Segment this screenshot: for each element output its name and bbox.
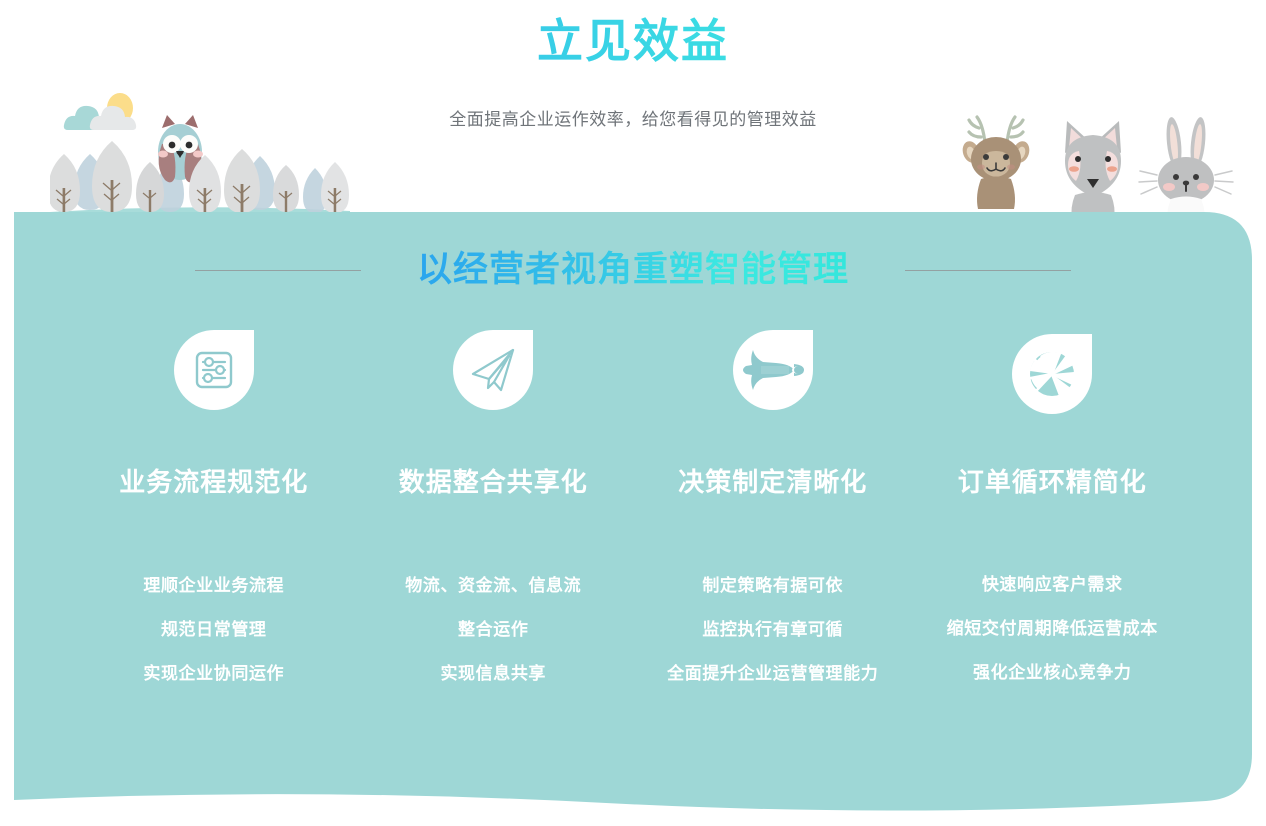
feature-line: 物流、资金流、信息流 xyxy=(405,571,581,596)
space-shuttle-icon xyxy=(731,328,815,412)
feature-line: 实现信息共享 xyxy=(440,659,546,684)
divider-right xyxy=(905,270,1071,271)
feature-line: 规范日常管理 xyxy=(161,615,267,640)
camera-aperture-icon xyxy=(1010,332,1094,416)
feature-line: 实现企业协同运作 xyxy=(143,659,284,684)
feature-line: 全面提升企业运营管理能力 xyxy=(667,659,878,684)
feature-columns: 业务流程规范化 理顺企业业务流程 规范日常管理 实现企业协同运作 xyxy=(74,328,1192,684)
sliders-settings-icon xyxy=(172,328,256,412)
section-heading: 以经营者视角重塑智能管理 xyxy=(417,246,849,294)
feature-line: 强化企业核心竞争力 xyxy=(973,658,1131,683)
feature-lines: 物流、资金流、信息流 整合运作 实现信息共享 xyxy=(405,571,581,684)
deer xyxy=(960,117,1032,209)
feature-line: 监控执行有章可循 xyxy=(702,615,843,640)
page-subtitle: 全面提高企业运作效率，给您看得见的管理效益 xyxy=(0,105,1266,130)
feature-line: 制定策略有据可依 xyxy=(702,571,843,596)
feature-line: 理顺企业业务流程 xyxy=(143,571,284,596)
feature-lines: 理顺企业业务流程 规范日常管理 实现企业协同运作 xyxy=(143,571,284,684)
benefits-panel: 以经营者视角重塑智能管理 xyxy=(14,208,1252,814)
page-title: 立见效益 xyxy=(0,10,1266,72)
wolf xyxy=(1065,121,1121,220)
feature-lines: 制定策略有据可依 监控执行有章可循 全面提升企业运营管理能力 xyxy=(667,571,878,684)
feature-lines: 快速响应客户需求 缩短交付周期降低运营成本 强化企业核心竞争力 xyxy=(947,570,1158,683)
feature-column-order-cycle[interactable]: 订单循环精简化 快速响应客户需求 缩短交付周期降低运营成本 强化企业核心竞争力 xyxy=(913,328,1193,684)
feature-column-decision-making[interactable]: 决策制定清晰化 制定策略有据可依 监控执行有章可循 全面提升企业运营管理能力 xyxy=(633,328,913,684)
feature-column-data-integration[interactable]: 数据整合共享化 物流、资金流、信息流 整合运作 实现信息共享 xyxy=(354,328,634,684)
feature-line: 整合运作 xyxy=(458,615,528,640)
feature-title: 业务流程规范化 xyxy=(119,462,308,499)
rabbit xyxy=(1139,116,1233,220)
divider-left xyxy=(195,270,361,271)
paper-plane-icon xyxy=(451,328,535,412)
feature-column-business-process[interactable]: 业务流程规范化 理顺企业业务流程 规范日常管理 实现企业协同运作 xyxy=(74,328,354,684)
feature-line: 快速响应客户需求 xyxy=(982,570,1123,595)
feature-title: 订单循环精简化 xyxy=(958,462,1147,499)
section-heading-row: 以经营者视角重塑智能管理 xyxy=(14,246,1252,294)
feature-title: 数据整合共享化 xyxy=(399,462,588,499)
feature-title: 决策制定清晰化 xyxy=(678,462,867,499)
feature-line: 缩短交付周期降低运营成本 xyxy=(947,614,1158,639)
